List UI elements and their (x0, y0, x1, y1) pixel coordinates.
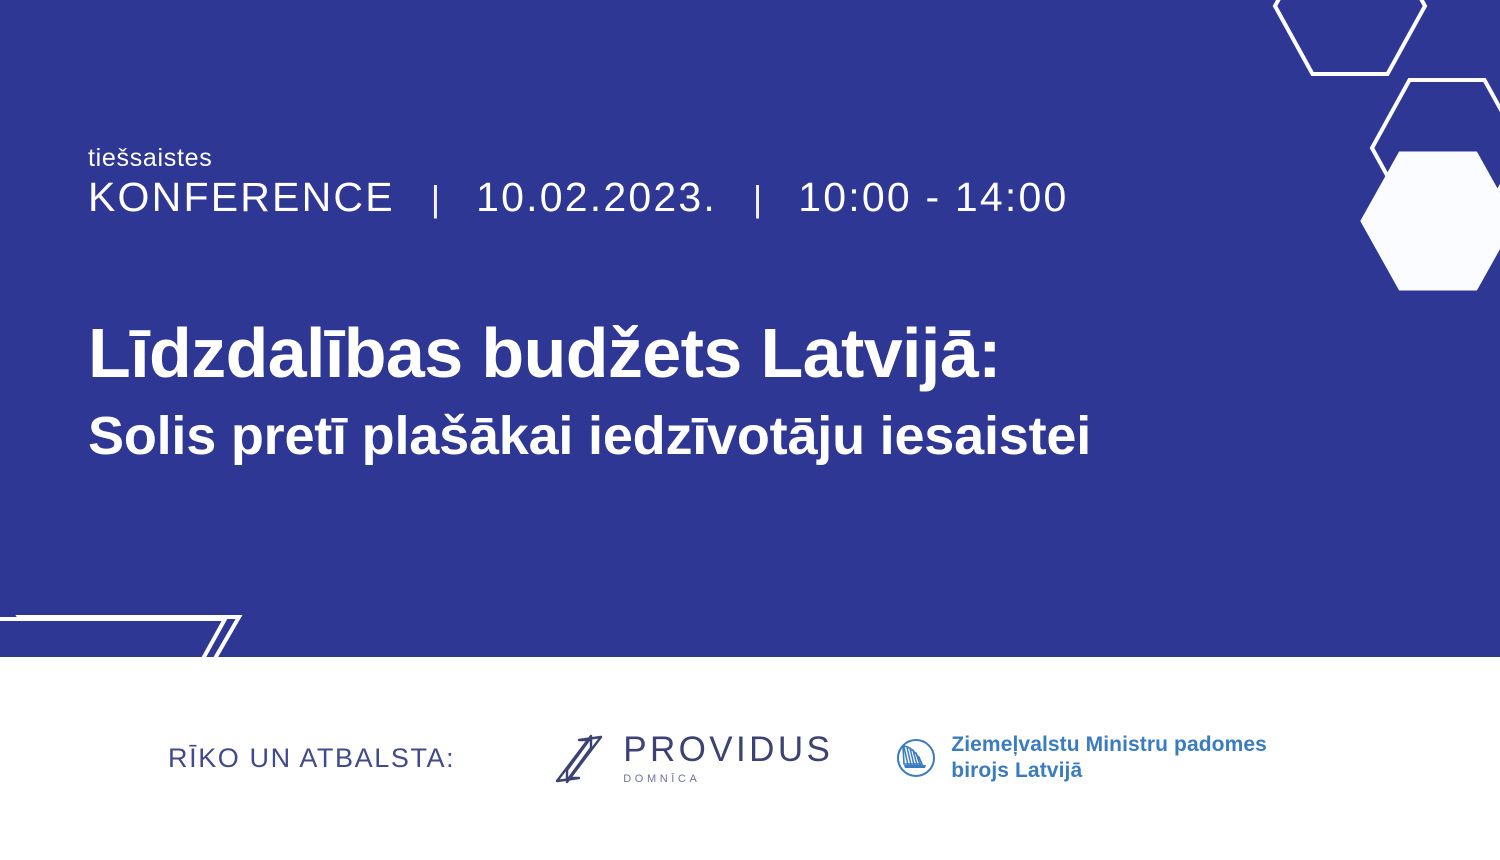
logo-providus[interactable]: PROVIDUS DOMNĪCA (551, 729, 833, 787)
providus-arrows-icon (551, 729, 607, 787)
hexagon-filled-icon (1362, 150, 1500, 292)
nordic-swan-icon (895, 737, 937, 779)
hero-header: tiešsaistes KONFERENCE | 10.02.2023. | 1… (88, 144, 1069, 221)
meta-separator: | (717, 179, 798, 219)
hexagon-outline-icon (1275, 0, 1425, 76)
logo-nordic-council[interactable]: Ziemeļvalstu Ministru padomes birojs Lat… (895, 732, 1267, 785)
organizers-label: RĪKO UN ATBALSTA: (168, 745, 455, 772)
conference-poster: tiešsaistes KONFERENCE | 10.02.2023. | 1… (0, 0, 1500, 860)
meta-separator: | (395, 179, 476, 219)
conference-time: 10:00 - 14:00 (798, 175, 1068, 221)
nordic-council-line-2: birojs Latvijā (951, 758, 1267, 784)
providus-tagline: DOMNĪCA (623, 774, 833, 785)
providus-wordmark: PROVIDUS DOMNĪCA (623, 732, 833, 785)
conference-type-label: KONFERENCE (88, 175, 395, 221)
page-title: Līdzdalības budžets Latvijā: Solis pretī… (88, 316, 1091, 466)
providus-name: PROVIDUS (623, 732, 833, 767)
eyebrow-label: tiešsaistes (88, 144, 1069, 173)
nordic-council-line-1: Ziemeļvalstu Ministru padomes (951, 732, 1267, 758)
conference-meta-row: KONFERENCE | 10.02.2023. | 10:00 - 14:00 (88, 175, 1069, 221)
footer-panel: RĪKO UN ATBALSTA: PROVIDUS DOMNĪCA (0, 657, 1500, 860)
conference-date: 10.02.2023. (476, 175, 717, 221)
nordic-council-wordmark: Ziemeļvalstu Ministru padomes birojs Lat… (951, 732, 1267, 785)
title-main: Līdzdalības budžets Latvijā: (88, 316, 1091, 392)
hero-panel: tiešsaistes KONFERENCE | 10.02.2023. | 1… (0, 0, 1500, 657)
triangle-filled-icon (40, 616, 270, 657)
sponsors-row: RĪKO UN ATBALSTA: PROVIDUS DOMNĪCA (168, 729, 1267, 787)
title-subtitle: Solis pretī plašākai iedzīvotāju iesaist… (88, 406, 1091, 466)
